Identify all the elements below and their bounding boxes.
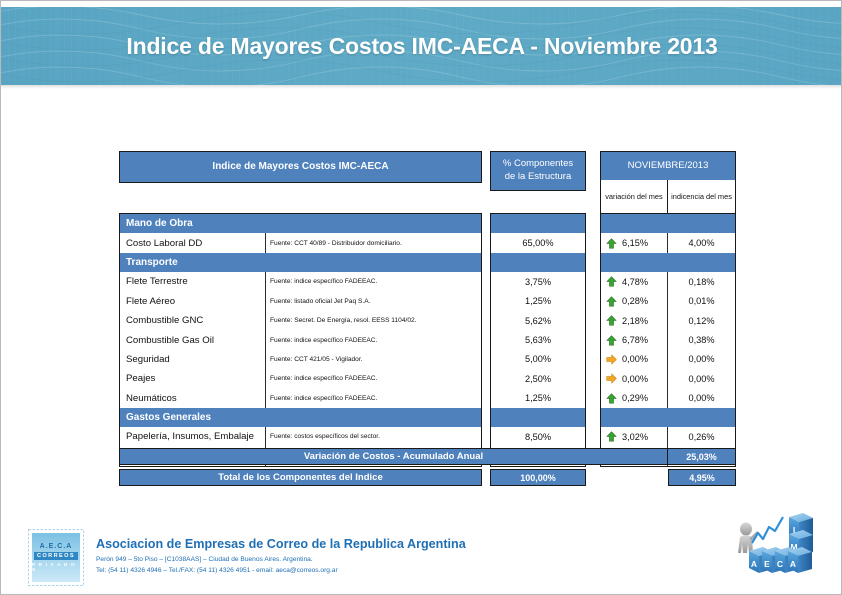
row-incidence: 0,00% [668,369,735,388]
row-month-values: 6,78%0,38% [601,330,735,349]
cost-index-table: Indice de Mayores Costos IMC-AECA % Comp… [119,151,739,486]
row-variation: 0,00% [601,350,668,369]
group-month-spacer [601,214,735,233]
row-month-values: 4,78%0,18% [601,272,735,291]
row-variation: 2,18% [601,311,668,330]
table-row: Combustible GNCFuente: Secret. De Energí… [120,311,481,330]
table-group-header: Gastos Generales [120,408,481,427]
row-incidence: 0,00% [668,350,735,369]
up-arrow-icon [606,238,617,249]
row-structure-percent: 1,25% [491,389,585,408]
row-variation: 3,02% [601,427,668,446]
row-component-name: Papelería, Insumos, Embalaje [120,431,265,442]
row-component-name: Seguridad [120,354,265,365]
annual-variation-row: Variación de Costos - Acumulado Anual 25… [119,448,736,465]
row-source: Fuente: indice específico FADEEAC. [265,369,481,388]
row-variation-value: 0,00% [622,354,648,364]
group-percent-spacer [491,214,585,233]
organization-address: Perón 949 – 5to Piso – [C1038AAS] – Ciud… [96,556,313,563]
cube-A2: A [788,547,812,573]
organization-name: Asociacion de Empresas de Correo de la R… [96,537,466,551]
group-percent-spacer [491,253,585,272]
flat-arrow-icon [606,373,617,384]
table-row: Costo Laboral DDFuente: CCT 40/89 - Dist… [120,233,481,252]
row-variation: 4,78% [601,272,668,291]
total-incidence-value: 4,95% [668,469,736,486]
row-variation: 0,28% [601,292,668,311]
row-variation-value: 4,78% [622,277,648,287]
row-incidence: 0,26% [668,427,735,446]
row-month-values: 2,18%0,12% [601,311,735,330]
row-month-values: 0,00%0,00% [601,350,735,369]
table-row: Papelería, Insumos, EmbalajeFuente: cost… [120,427,481,446]
row-month-values: 0,00%0,00% [601,369,735,388]
row-component-name: Peajes [120,373,265,384]
stamp-line1: A.E.C.A [40,543,73,550]
table-body: Mano de ObraCosto Laboral DDFuente: CCT … [119,213,739,467]
row-variation: 0,29% [601,389,668,408]
up-arrow-icon [606,296,617,307]
row-variation: 6,15% [601,233,668,252]
header-components: % Componentes de la Estructura [490,151,586,191]
row-structure-percent: 5,63% [491,330,585,349]
table-group-header: Transporte [120,253,481,272]
row-structure-percent: 3,75% [491,272,585,291]
svg-text:E: E [764,559,770,569]
row-variation-value: 0,28% [622,296,648,306]
header-banner: Indice de Mayores Costos IMC-AECA - Novi… [1,7,842,85]
row-incidence: 0,00% [668,389,735,408]
row-variation-value: 3,02% [622,432,648,442]
up-arrow-icon [606,276,617,287]
column-structure-percent: 65,00%3,75%1,25%5,62%5,63%5,00%2,50%1,25… [490,213,586,467]
svg-text:C: C [777,559,783,569]
row-variation-value: 2,18% [622,316,648,326]
flat-arrow-icon [606,354,617,365]
row-component-name: Combustible Gas Oil [120,335,265,346]
row-structure-percent: 2,50% [491,369,585,388]
total-row: Total de los Componentes del Indice 100,… [119,469,739,486]
row-incidence: 4,00% [668,233,735,252]
row-source: Fuente: CCT 40/89 - Distribuidor domicil… [265,233,481,252]
header-components-line2: de la Estructura [503,171,573,184]
row-source: Fuente: costos específicos del sector. [265,427,481,446]
row-variation: 0,00% [601,369,668,388]
row-structure-percent: 8,50% [491,427,585,446]
table-row: Flete AéreoFuente: listado oficial Jet P… [120,292,481,311]
row-month-values: 0,29%0,00% [601,389,735,408]
row-incidence: 0,38% [668,330,735,349]
table-row: NeumáticosFuente: indice específico FADE… [120,389,481,408]
table-row: PeajesFuente: indice específico FADEEAC. [120,369,481,388]
header-period-block: NOVIEMBRE/2013 variación del mes indicen… [600,151,736,214]
row-variation-value: 6,15% [622,238,648,248]
header-period: NOVIEMBRE/2013 [601,152,735,180]
header-main-title: Indice de Mayores Costos IMC-AECA [119,151,482,183]
row-component-name: Neumáticos [120,393,265,404]
table-row: SeguridadFuente: CCT 421/05 - Vigilador. [120,350,481,369]
total-variation-empty [600,469,668,486]
row-structure-percent: 65,00% [491,233,585,252]
header-components-line1: % Componentes [503,158,573,171]
growth-chart-line [752,517,783,543]
row-month-values: 6,15%4,00% [601,233,735,252]
row-month-values: 3,02%0,26% [601,427,735,446]
table-row: Combustible Gas OilFuente: indice especí… [120,330,481,349]
imc-aeca-cube-logo: I M A E C [731,509,831,589]
row-component-name: Costo Laboral DD [120,238,265,249]
row-source: Fuente: CCT 421/05 - Vigilador. [265,350,481,369]
row-component-name: Flete Aéreo [120,296,265,307]
row-component-name: Combustible GNC [120,315,265,326]
annual-value: 25,03% [668,448,736,465]
row-component-name: Flete Terrestre [120,276,265,287]
page-title: Indice de Mayores Costos IMC-AECA - Novi… [1,7,842,85]
header-incidence: indicencia del mes [668,180,735,213]
row-variation-value: 0,29% [622,393,648,403]
row-source: Fuente: listado oficial Jet Paq S.A. [265,292,481,311]
row-variation-value: 0,00% [622,374,648,384]
total-component-value: 100,00% [490,469,586,486]
stamp-line2: CORREOS [34,552,78,560]
row-structure-percent: 1,25% [491,292,585,311]
row-variation-value: 6,78% [622,335,648,345]
stamp-line3: P R I V A D O S [32,562,80,572]
row-month-values: 0,28%0,01% [601,292,735,311]
table-header-row: Indice de Mayores Costos IMC-AECA % Comp… [119,151,739,213]
row-structure-percent: 5,00% [491,350,585,369]
row-incidence: 0,01% [668,292,735,311]
row-incidence: 0,18% [668,272,735,291]
up-arrow-icon [606,431,617,442]
row-source: Fuente: Secret. De Energía, resol. EESS … [265,311,481,330]
poster-page: Indice de Mayores Costos IMC-AECA - Novi… [0,0,842,595]
svg-text:A: A [751,559,757,569]
up-arrow-icon [606,315,617,326]
row-source: Fuente: indice específico FADEEAC. [265,272,481,291]
annual-label: Variación de Costos - Acumulado Anual [119,448,668,465]
up-arrow-icon [606,335,617,346]
group-month-spacer [601,408,735,427]
row-structure-percent: 5,62% [491,311,585,330]
group-percent-spacer [491,408,585,427]
svg-text:A: A [790,559,796,569]
column-components: Mano de ObraCosto Laboral DDFuente: CCT … [119,213,482,467]
aeca-stamp-logo: A.E.C.A CORREOS P R I V A D O S [28,529,84,586]
header-variation: variación del mes [601,180,668,213]
table-group-header: Mano de Obra [120,214,481,233]
table-row: Flete TerrestreFuente: indice específico… [120,272,481,291]
total-label: Total de los Componentes del Indice [119,469,482,486]
row-variation: 6,78% [601,330,668,349]
up-arrow-icon [606,393,617,404]
row-incidence: 0,12% [668,311,735,330]
footer: A.E.C.A CORREOS P R I V A D O S Asociaci… [1,517,842,587]
row-source: Fuente: indice específico FADEEAC. [265,330,481,349]
group-month-spacer [601,253,735,272]
organization-contact: Tel: (54 11) 4326 4946 – Tel./FAX: (54 1… [96,567,338,574]
row-source: Fuente: indice específico FADEEAC. [265,389,481,408]
column-month-values: 6,15%4,00%4,78%0,18%0,28%0,01%2,18%0,12%… [600,213,736,467]
banner-shadow [1,85,842,89]
